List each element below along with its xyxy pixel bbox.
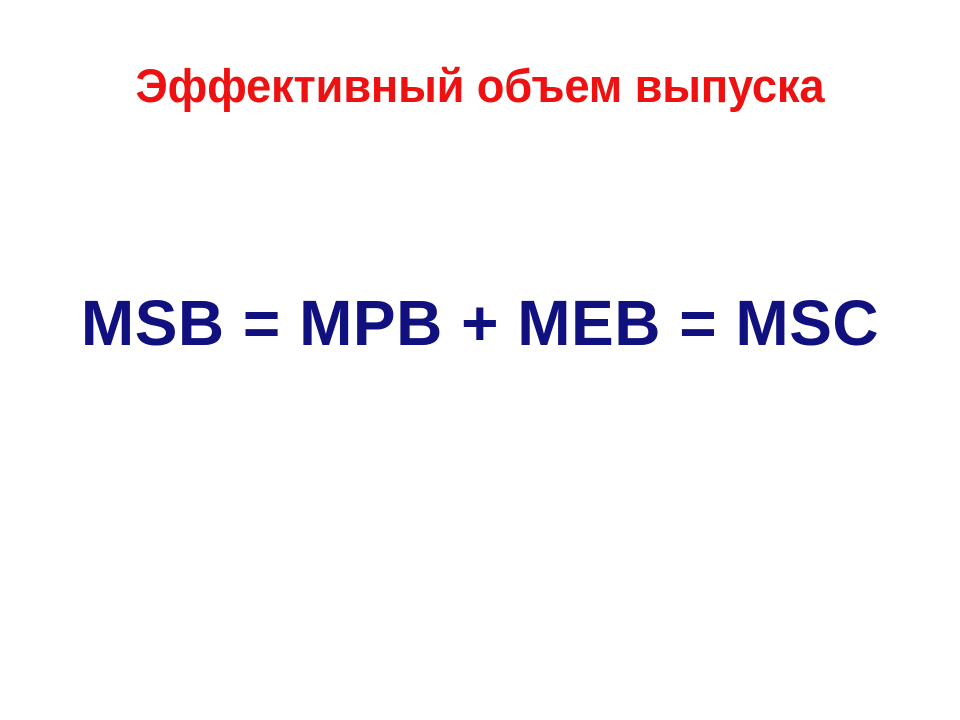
formula-container: MSB = MPB + MEB = MSC xyxy=(0,286,960,360)
equation-text: MSB = MPB + MEB = MSC xyxy=(81,286,879,360)
slide-empty-body-area xyxy=(0,380,960,720)
slide-canvas: Эффективный объем выпуска MSB = MPB + ME… xyxy=(0,0,960,720)
page-title: Эффективный объем выпуска xyxy=(17,58,943,114)
